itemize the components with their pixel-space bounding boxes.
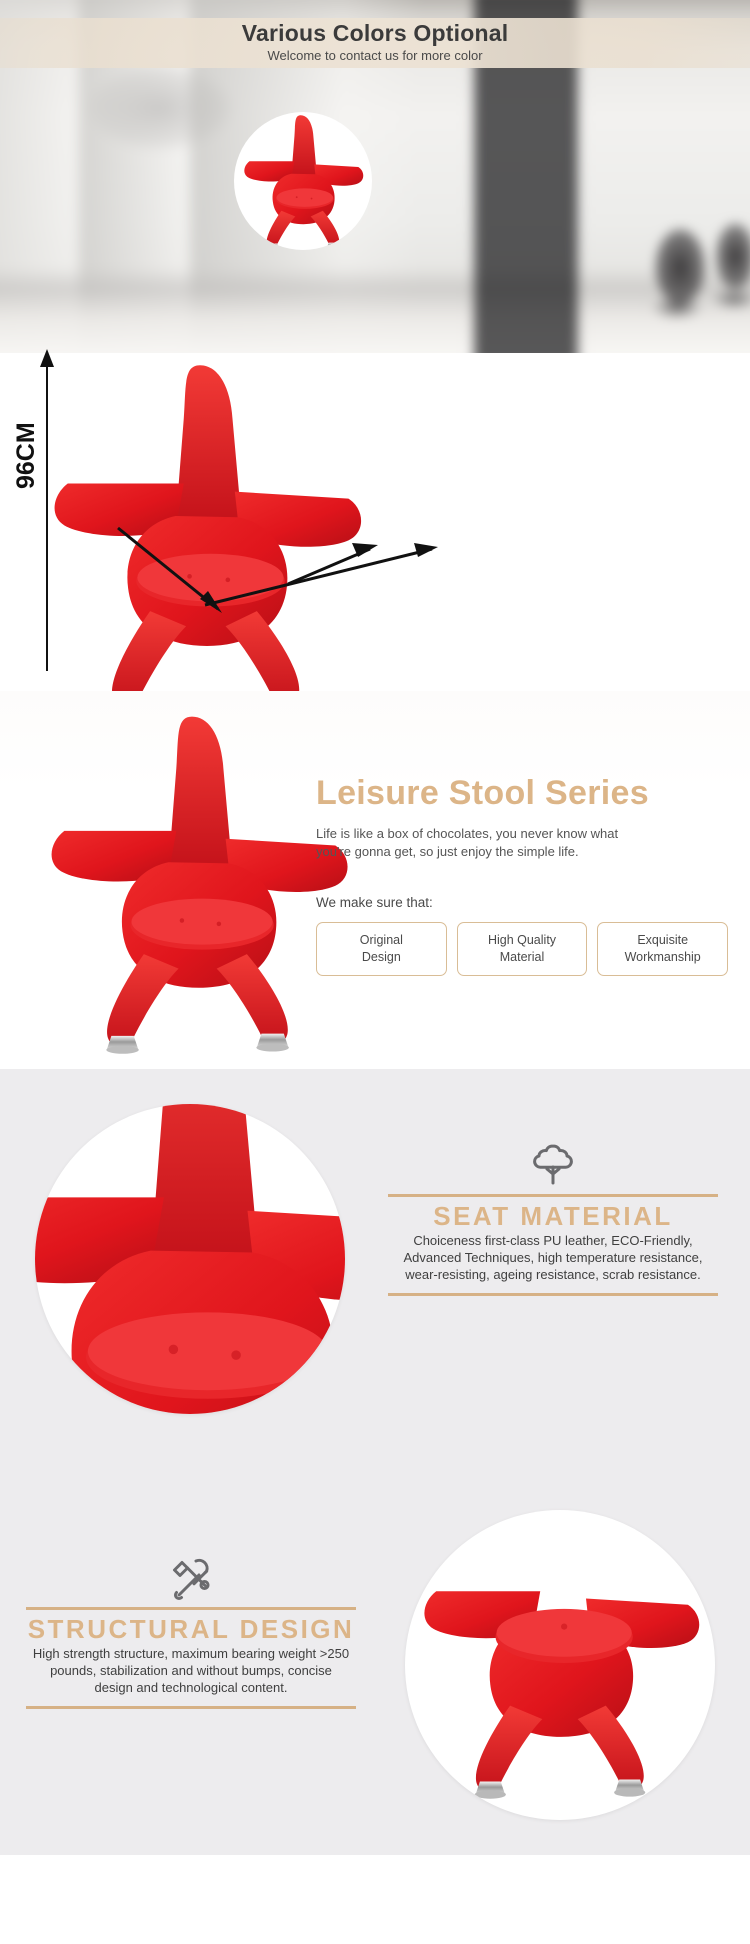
- seat-material-title: SEAT MATERIAL: [388, 1200, 718, 1232]
- dimensions-section: 96CM 86CM 97.5CM Fashionable Design: [0, 353, 750, 691]
- structural-design-body: High strength structure, maximum bearing…: [26, 1645, 356, 1701]
- leisure-title: Leisure Stool Series: [316, 773, 728, 813]
- leisure-copy-block: Leisure Stool Series Life is like a box …: [316, 773, 728, 976]
- hero-section: Various Colors Optional Welcome to conta…: [0, 0, 750, 353]
- seat-material-section: SEAT MATERIAL Choiceness first-class PU …: [0, 1069, 750, 1462]
- promise-label: We make sure that:: [316, 895, 728, 910]
- promise-pill-line: Original: [321, 932, 442, 949]
- tools-icon: [26, 1550, 356, 1602]
- structural-design-section: STRUCTURAL DESIGN High strength structur…: [0, 1462, 750, 1855]
- divider-top: [388, 1194, 718, 1197]
- chair-illustration-seat-closeup: [35, 1104, 345, 1414]
- leisure-description: Life is like a box of chocolates, you ne…: [316, 825, 646, 861]
- base-closeup-circle: [405, 1510, 715, 1820]
- structural-design-title: STRUCTURAL DESIGN: [26, 1613, 356, 1645]
- promise-pill-line: High Quality: [462, 932, 583, 949]
- promise-pill-line: Exquisite: [602, 932, 723, 949]
- promise-pill-row: Original Design High Quality Material Ex…: [316, 922, 728, 976]
- hero-banner: Various Colors Optional Welcome to conta…: [0, 18, 750, 68]
- divider-bottom: [26, 1706, 356, 1709]
- chair-illustration: [234, 112, 372, 250]
- dimension-arrows: [0, 353, 750, 691]
- leisure-series-section: Leisure Stool Series Life is like a box …: [0, 691, 750, 1069]
- promise-pill-line: Material: [462, 949, 583, 966]
- tree-icon: [388, 1137, 718, 1189]
- seat-material-body: Choiceness first-class PU leather, ECO-F…: [388, 1232, 718, 1288]
- seat-closeup-circle: [35, 1104, 345, 1414]
- promise-pill: High Quality Material: [457, 922, 588, 976]
- page-title: Various Colors Optional: [0, 18, 750, 47]
- divider-bottom: [388, 1293, 718, 1296]
- hero-product-circle: [234, 112, 372, 250]
- promise-pill: Exquisite Workmanship: [597, 922, 728, 976]
- page-subtitle: Welcome to contact us for more color: [0, 47, 750, 64]
- product-detail-page: Various Colors Optional Welcome to conta…: [0, 0, 750, 1855]
- chair-illustration-base-closeup: [405, 1510, 715, 1803]
- promise-pill: Original Design: [316, 922, 447, 976]
- structural-design-text: STRUCTURAL DESIGN High strength structur…: [26, 1550, 356, 1709]
- seat-material-text: SEAT MATERIAL Choiceness first-class PU …: [388, 1137, 718, 1296]
- promise-pill-line: Design: [321, 949, 442, 966]
- promise-pill-line: Workmanship: [602, 949, 723, 966]
- divider-top: [26, 1607, 356, 1610]
